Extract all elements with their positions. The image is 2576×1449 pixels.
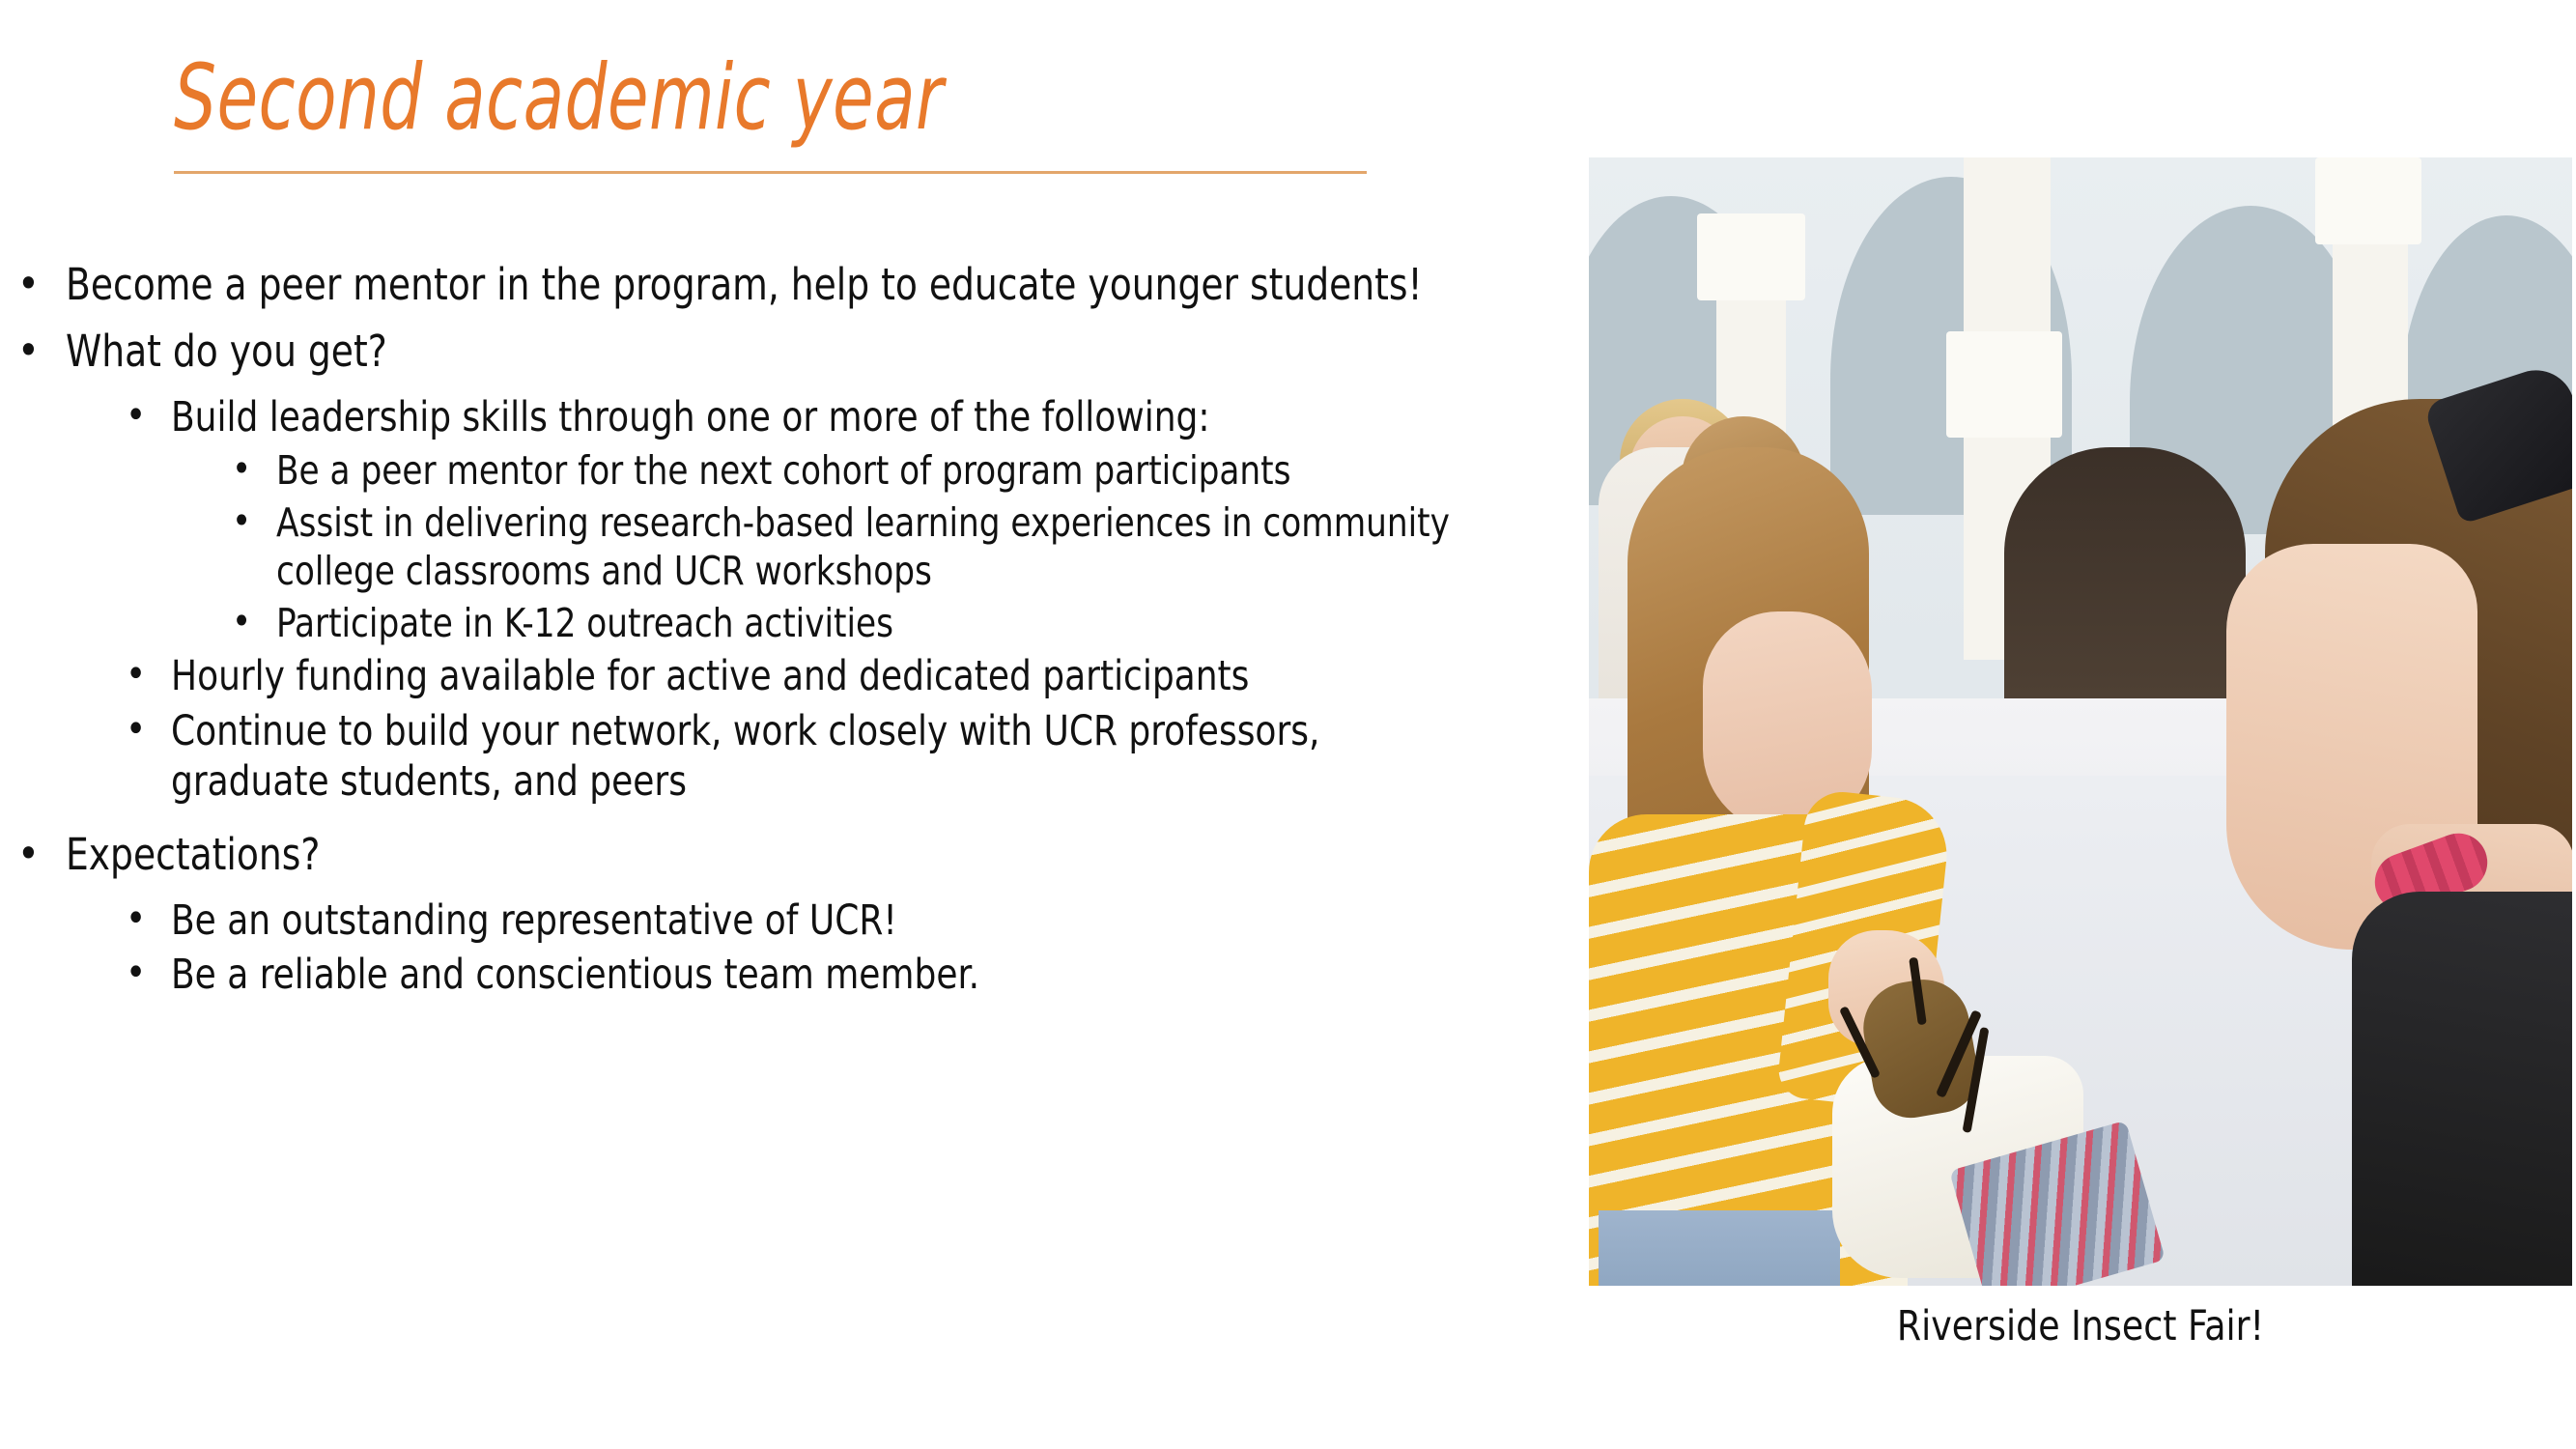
column-capital xyxy=(1697,213,1805,300)
list-item: • Be an outstanding representative of UC… xyxy=(126,895,1543,946)
column-capital xyxy=(2315,157,2421,244)
bullet-marker: • xyxy=(232,446,276,491)
bullet-marker: • xyxy=(17,326,66,376)
bullet-marker: • xyxy=(17,259,66,309)
list-item: • What do you get? xyxy=(17,326,1543,379)
list-item-text: Participate in K-12 outreach activities xyxy=(276,599,1455,647)
bullet-marker: • xyxy=(126,950,171,997)
bullet-marker: • xyxy=(126,706,171,753)
woman-black-shirt xyxy=(2352,892,2572,1286)
insect-fair-photo xyxy=(1589,157,2572,1286)
list-item: • Be a peer mentor for the next cohort o… xyxy=(232,446,1543,495)
list-item: • Be a reliable and conscientious team m… xyxy=(126,950,1543,1000)
list-item-text: Be a reliable and conscientious team mem… xyxy=(171,950,1447,1000)
title-block: Second academic year xyxy=(174,53,1420,144)
girl-jeans xyxy=(1599,1210,1840,1286)
photo-illustration xyxy=(1589,157,2572,1286)
bullet-marker: • xyxy=(126,651,171,698)
bullet-marker: • xyxy=(17,829,66,879)
list-item: • Continue to build your network, work c… xyxy=(126,706,1543,808)
list-item-text: Be an outstanding representative of UCR! xyxy=(171,895,1447,946)
column-capital xyxy=(1946,331,2062,438)
title-underline-rule xyxy=(174,171,1367,174)
list-item-text: Build leadership skills through one or m… xyxy=(171,392,1447,442)
list-item: • Build leadership skills through one or… xyxy=(126,392,1543,442)
bullet-list: • Become a peer mentor in the program, h… xyxy=(17,259,1543,1004)
list-item: • Become a peer mentor in the program, h… xyxy=(17,259,1543,312)
list-item: • Assist in delivering research-based le… xyxy=(232,498,1543,595)
photo-caption: Riverside Insect Fair! xyxy=(1619,1302,2543,1350)
list-item: • Expectations? xyxy=(17,829,1543,882)
list-item-text: Become a peer mentor in the program, hel… xyxy=(66,259,1440,312)
list-item-text: Hourly funding available for active and … xyxy=(171,651,1447,701)
list-item: • Hourly funding available for active an… xyxy=(126,651,1543,701)
list-item-text: Be a peer mentor for the next cohort of … xyxy=(276,446,1455,495)
bullet-marker: • xyxy=(126,392,171,440)
slide-canvas: Second academic year • Become a peer men… xyxy=(0,0,2576,1449)
list-item-text: Expectations? xyxy=(66,829,1440,882)
page-title: Second academic year xyxy=(174,53,1196,144)
bullet-marker: • xyxy=(126,895,171,943)
bullet-marker: • xyxy=(232,498,276,543)
list-item: • Participate in K-12 outreach activitie… xyxy=(232,599,1543,647)
bullet-marker: • xyxy=(232,599,276,643)
list-item-text: What do you get? xyxy=(66,326,1440,379)
list-item-text: Assist in delivering research-based lear… xyxy=(276,498,1455,595)
list-item-text: Continue to build your network, work clo… xyxy=(171,706,1447,808)
